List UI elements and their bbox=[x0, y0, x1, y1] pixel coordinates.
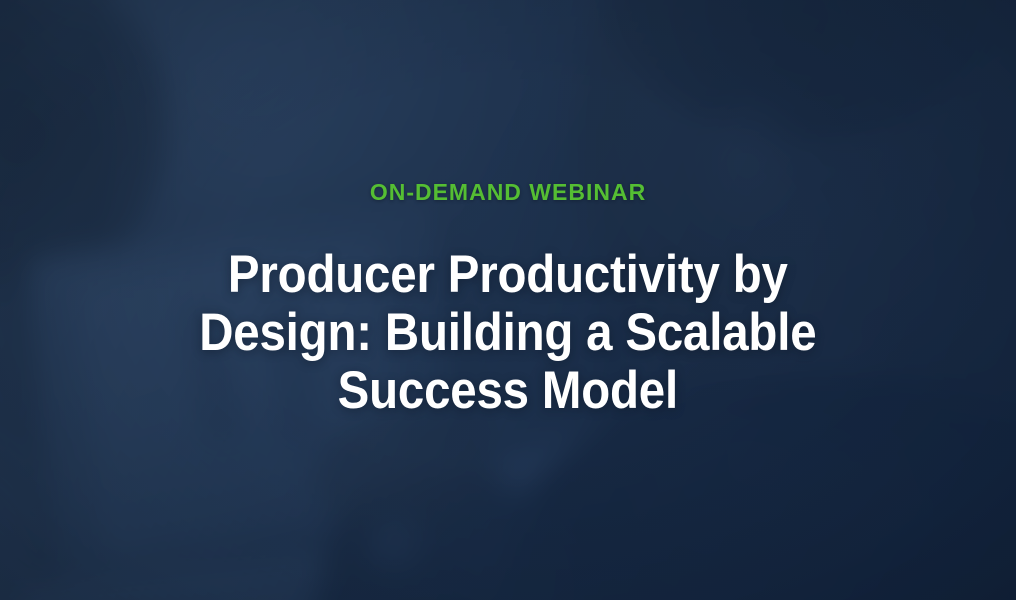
headline-line-1: Producer Productivity by bbox=[199, 246, 816, 304]
headline-line-3: Success Model bbox=[199, 362, 816, 420]
eyebrow-label: ON-DEMAND WEBINAR bbox=[370, 181, 646, 204]
page-title: Producer Productivity by Design: Buildin… bbox=[199, 246, 816, 420]
banner-content: ON-DEMAND WEBINAR Producer Productivity … bbox=[0, 0, 1016, 600]
webinar-hero-banner: ON-DEMAND WEBINAR Producer Productivity … bbox=[0, 0, 1016, 600]
headline-line-2: Design: Building a Scalable bbox=[199, 304, 816, 362]
